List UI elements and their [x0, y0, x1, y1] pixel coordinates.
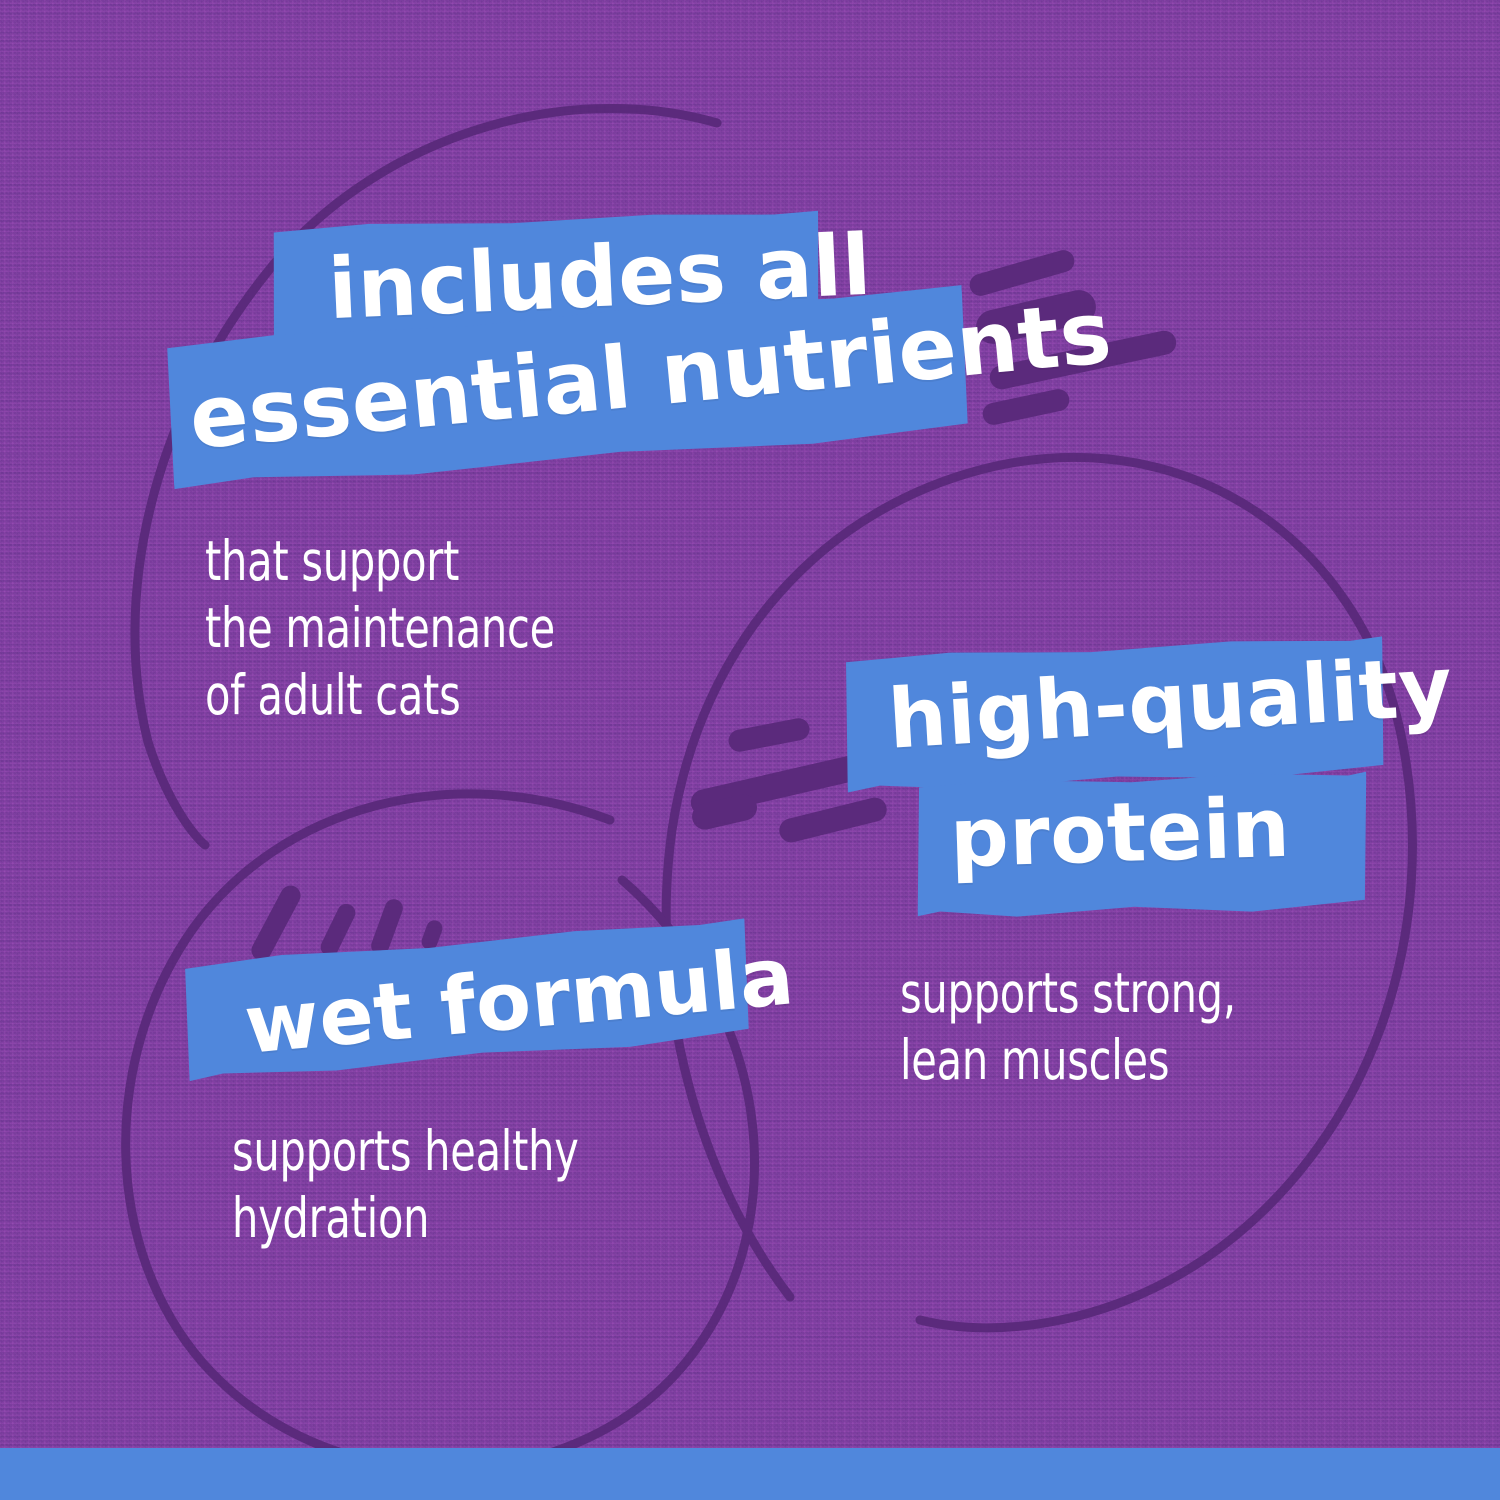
poster-canvas: includes all essential nutrients that su… [0, 0, 1500, 1500]
body-copy-essential-nutrients: that support the maintenance of adult ca… [205, 528, 555, 729]
bottom-accent-bar [0, 1448, 1500, 1500]
body-copy-wet-formula: supports healthy hydration [232, 1118, 579, 1252]
headline-line-2: protein [949, 788, 1292, 881]
headline-badge-essential-nutrients: includes all essential nutrients [150, 205, 990, 505]
headline-badge-high-quality-protein: high-quality protein [840, 635, 1400, 925]
body-copy-high-quality-protein: supports strong, lean muscles [900, 960, 1236, 1094]
headline-badge-wet-formula: wet formula [180, 925, 770, 1090]
